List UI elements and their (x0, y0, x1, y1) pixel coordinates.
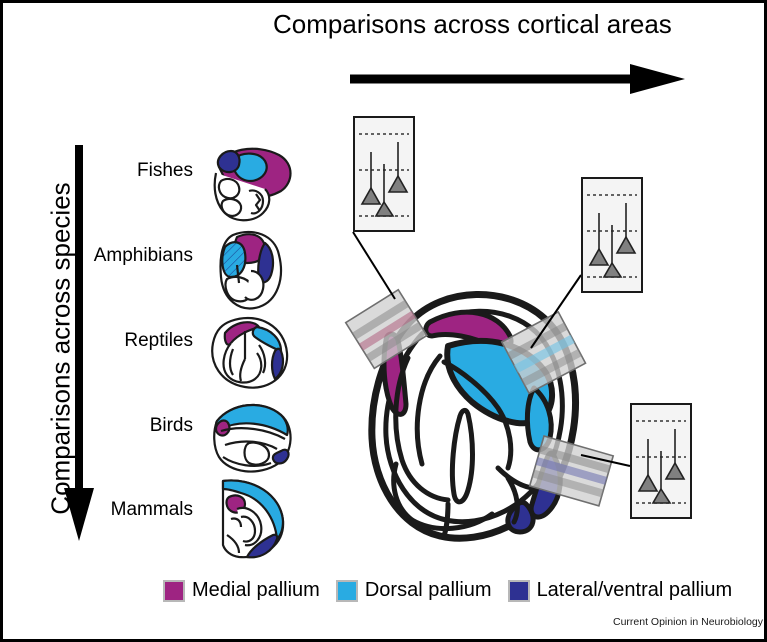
neuron-column-diagram (583, 179, 641, 291)
figure-canvas: Comparisons across cortical areas Compar… (0, 0, 767, 642)
legend-label-lateral-ventral-pallium: Lateral/ventral pallium (537, 579, 733, 602)
legend-item-medial-pallium: Medial pallium (163, 579, 320, 602)
inset-lateral-pallium-neurons[interactable] (630, 403, 692, 519)
neuron-column-diagram (355, 118, 413, 230)
legend-swatch-lateral-ventral-pallium (508, 580, 530, 602)
legend-item-dorsal-pallium: Dorsal pallium (336, 579, 492, 602)
inset-medial-pallium-neurons[interactable] (353, 116, 415, 232)
journal-credit: Current Opinion in Neurobiology (613, 616, 763, 628)
inset-dorsal-pallium-neurons[interactable] (581, 177, 643, 293)
legend-label-dorsal-pallium: Dorsal pallium (365, 579, 492, 602)
legend-swatch-dorsal-pallium (336, 580, 358, 602)
legend-item-lateral-ventral-pallium: Lateral/ventral pallium (508, 579, 733, 602)
legend-swatch-medial-pallium (163, 580, 185, 602)
inset-connector-lines (3, 3, 767, 642)
legend: Medial pallium Dorsal pallium Lateral/ve… (163, 579, 748, 602)
legend-label-medial-pallium: Medial pallium (192, 579, 320, 602)
neuron-column-diagram (632, 405, 690, 517)
